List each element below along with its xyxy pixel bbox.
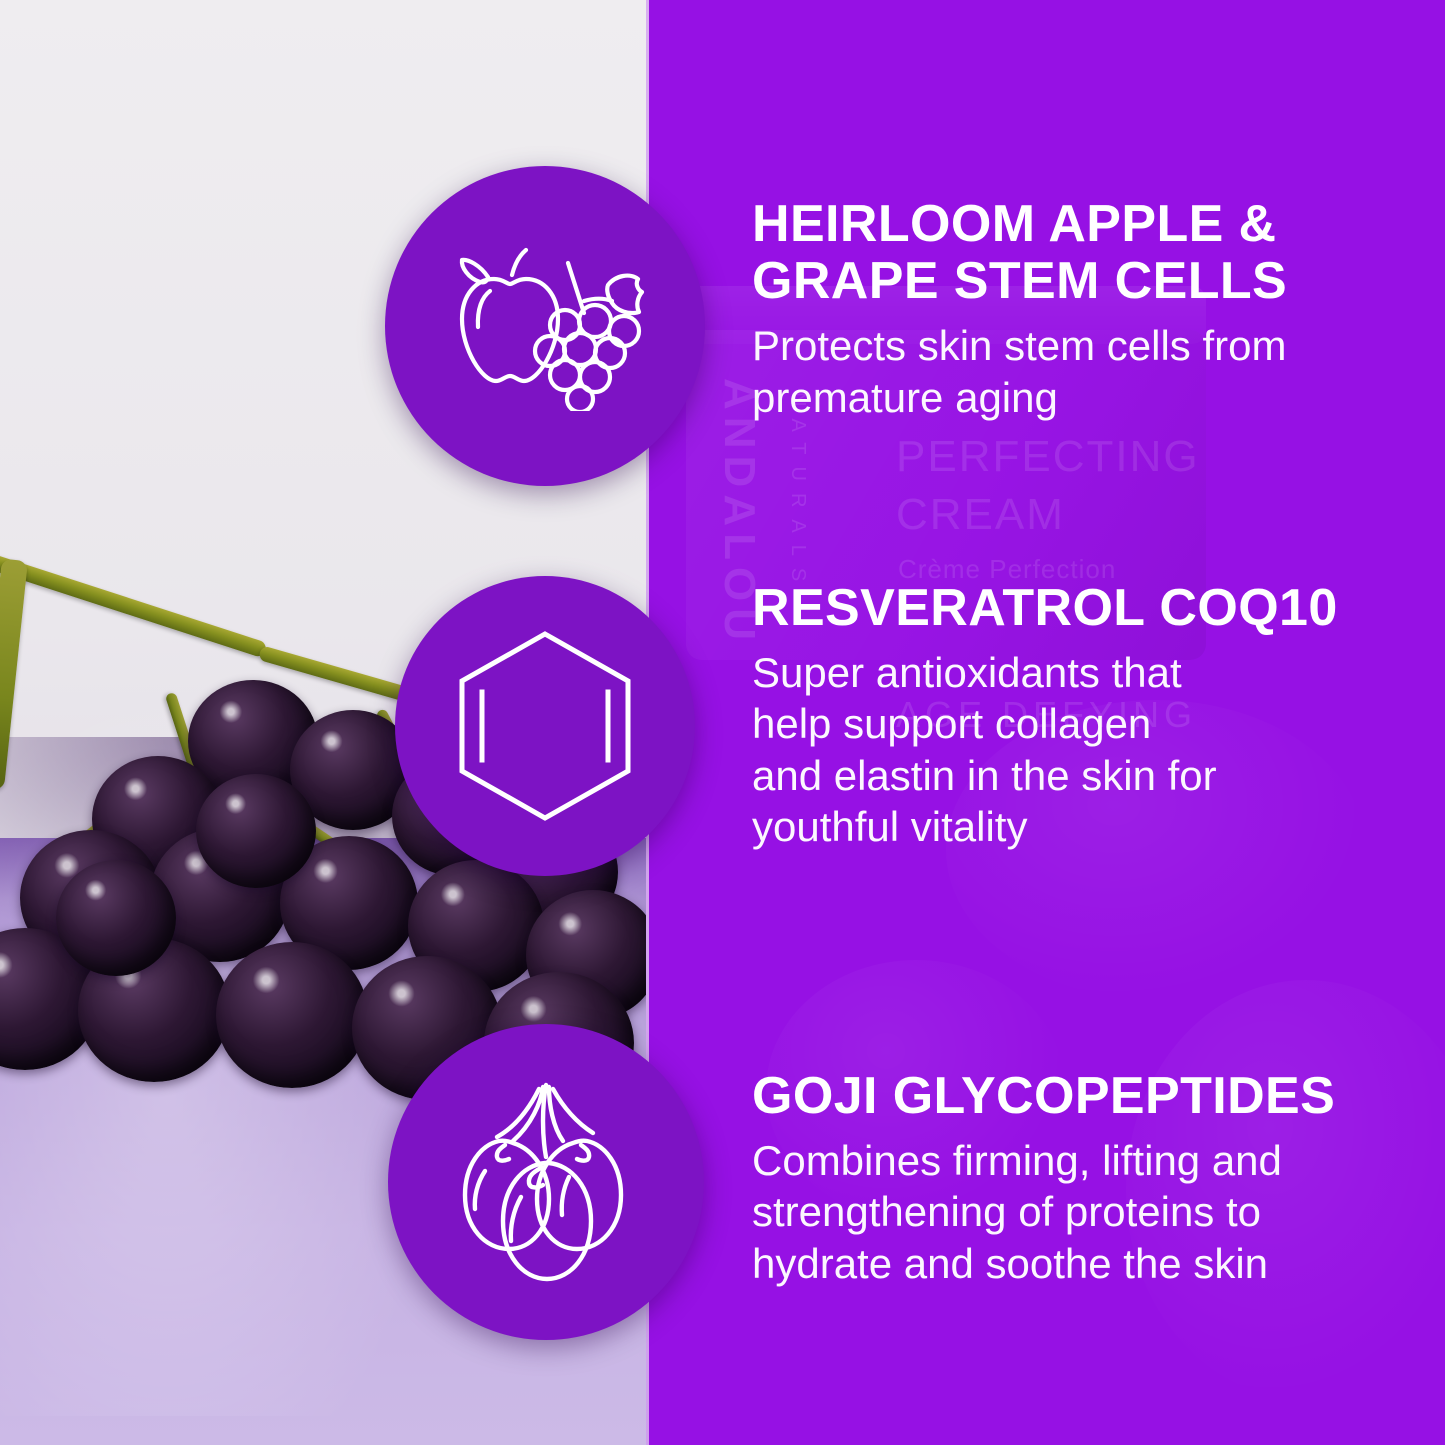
feature-text-block-2: RESVERATROL COQ10 Super antioxidants tha… [752,580,1412,852]
feature-body-3-line-3: hydrate and soothe the skin [752,1238,1442,1289]
feature-heading-1-line-1: HEIRLOOM APPLE & [752,195,1277,253]
feature-body-1-line-1: Protects skin stem cells from [752,320,1412,371]
watermark-product-line-2: CREAM [896,490,1065,540]
feature-body-2-line-4: youthful vitality [752,801,1412,852]
feature-body-1: Protects skin stem cells from premature … [752,320,1412,422]
feature-body-3-line-1: Combines firming, lifting and [752,1135,1442,1186]
feature-heading-1: HEIRLOOM APPLE & GRAPE STEM CELLS [752,196,1412,310]
feature-icon-badge-1 [385,166,705,486]
feature-heading-3: GOJI GLYCOPEPTIDES [752,1068,1442,1125]
feature-heading-2-line-2: COQ10 [1159,579,1337,637]
feature-body-2-line-2: help support collagen [752,698,1412,749]
feature-body-3-line-2: strengthening of proteins to [752,1186,1442,1237]
feature-heading-2-line-1: RESVERATROL [752,579,1145,637]
feature-heading-1-line-2: GRAPE STEM CELLS [752,252,1287,310]
apple-and-grapes-icon [432,241,658,411]
feature-heading-3-line-1: GOJI GLYCOPEPTIDES [752,1067,1335,1125]
feature-body-3: Combines firming, lifting and strengthen… [752,1135,1442,1289]
feature-body-1-line-2: premature aging [752,372,1412,423]
feature-icon-badge-3 [388,1024,704,1340]
feature-text-block-3: GOJI GLYCOPEPTIDES Combines firming, lif… [752,1068,1442,1289]
feature-icon-badge-2 [395,576,695,876]
feature-body-2-line-3: and elastin in the skin for [752,750,1412,801]
feature-body-2: Super antioxidants that help support col… [752,647,1412,852]
goji-berries-icon [439,1079,653,1285]
watermark-product-line-1: PERFECTING [896,432,1200,482]
benzene-hexagon-molecule-icon [456,628,634,824]
feature-text-block-1: HEIRLOOM APPLE & GRAPE STEM CELLS Protec… [752,196,1412,423]
infographic-canvas: ANDALOU NATURALS PERFECTING CREAM Crème … [0,0,1445,1445]
feature-body-2-line-1: Super antioxidants that [752,647,1412,698]
feature-heading-2: RESVERATROL COQ10 [752,580,1412,637]
